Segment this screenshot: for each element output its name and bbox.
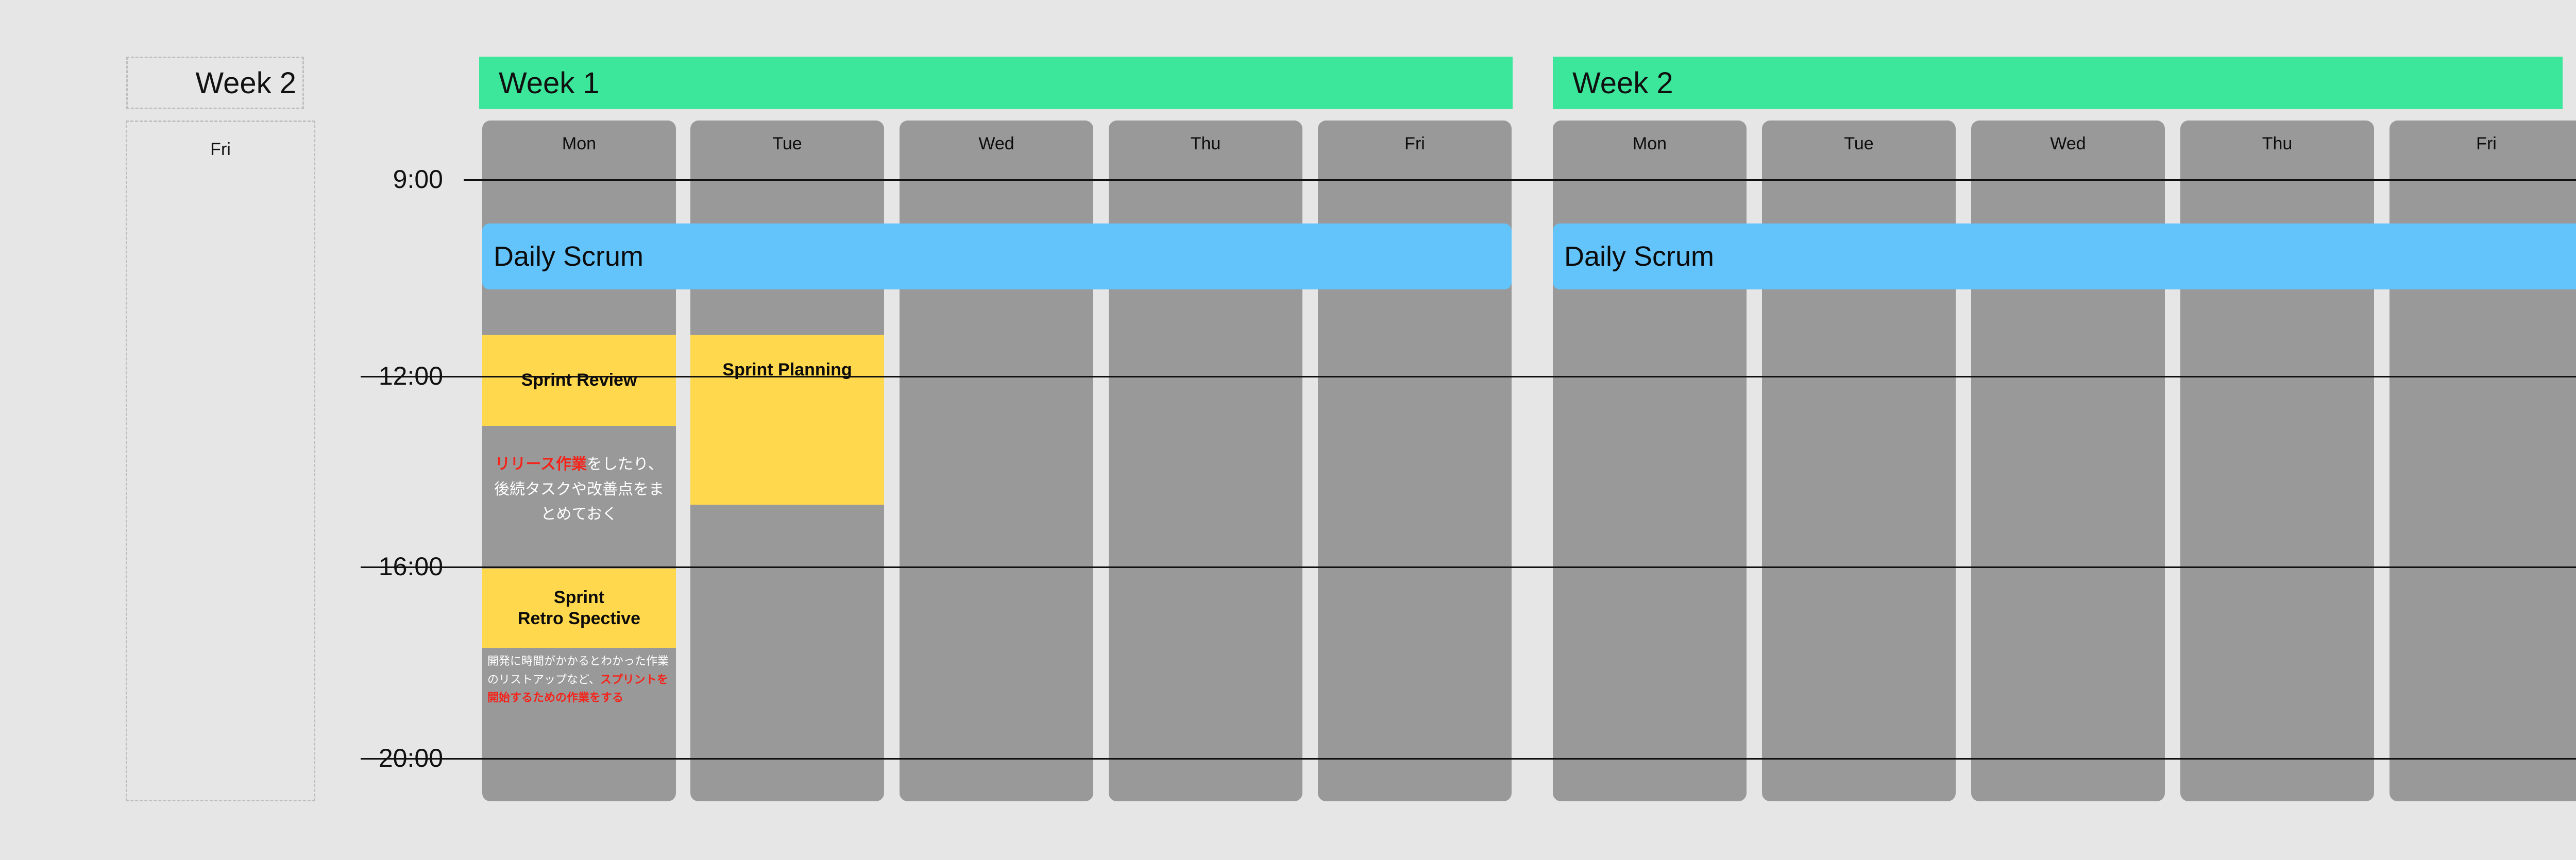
day-column-w2-wed[interactable]: Wed (1971, 121, 2165, 801)
day-label-w1-tue: Tue (690, 134, 884, 154)
gridline-2000 (361, 758, 2576, 760)
day-column-w2-thu[interactable]: Thu (2180, 121, 2374, 801)
week-header-label-1: Week 1 (499, 66, 600, 100)
ghost-left-week-header: Week 2 (126, 57, 304, 109)
day-label-w1-fri: Fri (1318, 134, 1512, 154)
event-daily-scrum-week1[interactable]: Daily Scrum (482, 223, 1512, 289)
day-column-w1-thu[interactable]: Thu (1109, 121, 1302, 801)
day-column-w2-tue[interactable]: Tue (1762, 121, 1956, 801)
note-release-work: リリース作業をしたり、後続タスクや改善点をまとめておく (482, 426, 676, 554)
day-column-w2-mon[interactable]: Mon (1553, 121, 1747, 801)
event-sprint-planning[interactable]: Sprint Planning (690, 335, 884, 505)
day-column-w2-fri[interactable]: Fri (2389, 121, 2576, 801)
gridline-1200 (361, 376, 2576, 377)
time-label-1600: 16:00 (268, 552, 443, 581)
day-column-w1-fri[interactable]: Fri (1318, 121, 1512, 801)
event-daily-scrum-week2[interactable]: Daily Scrum (1553, 223, 2576, 289)
event-daily-scrum-week2-label: Daily Scrum (1564, 240, 1714, 272)
time-label-0900: 9:00 (268, 164, 443, 194)
week-header-bar-2[interactable]: Week 2 (1553, 57, 2563, 109)
day-label-w2-wed: Wed (1971, 134, 2165, 154)
ghost-left-day-label: Fri (210, 140, 231, 160)
event-sprint-planning-label: Sprint Planning (722, 359, 852, 381)
ghost-left-day-column: Fri (126, 121, 315, 801)
gridline-0900 (464, 179, 2576, 181)
time-label-1200: 12:00 (268, 361, 443, 391)
gridline-1600 (361, 566, 2576, 568)
ghost-left-week-label: Week 2 (195, 66, 296, 100)
event-sprint-retrospective[interactable]: Sprint Retro Spective (482, 569, 676, 648)
day-label-w2-mon: Mon (1553, 134, 1747, 154)
week-header-bar-1[interactable]: Week 1 (479, 57, 1513, 109)
event-daily-scrum-week1-label: Daily Scrum (494, 240, 643, 272)
week-header-label-2: Week 2 (1572, 66, 1673, 100)
day-label-w2-tue: Tue (1762, 134, 1956, 154)
calendar-canvas: Week 2 Fri Week 1 Mon Week 1 Week 2 Mon … (0, 0, 2576, 860)
day-label-w1-mon: Mon (482, 134, 676, 154)
day-label-w1-thu: Thu (1109, 134, 1302, 154)
day-label-w2-thu: Thu (2180, 134, 2374, 154)
day-column-w1-wed[interactable]: Wed (900, 121, 1093, 801)
event-sprint-review[interactable]: Sprint Review (482, 335, 676, 426)
time-label-2000: 20:00 (268, 743, 443, 773)
day-label-w1-wed: Wed (900, 134, 1093, 154)
note-release-work-highlight: リリース作業 (495, 456, 587, 473)
event-sprint-retrospective-line1: Sprint (518, 587, 640, 608)
event-sprint-review-label: Sprint Review (521, 370, 637, 391)
event-sprint-retrospective-line2: Retro Spective (518, 608, 640, 629)
day-label-w2-fri: Fri (2389, 134, 2576, 154)
note-sprint-planning-prep: 開発に時間がかかるとわかった作業のリストアップなど、スプリントを開始するための作… (482, 648, 676, 751)
